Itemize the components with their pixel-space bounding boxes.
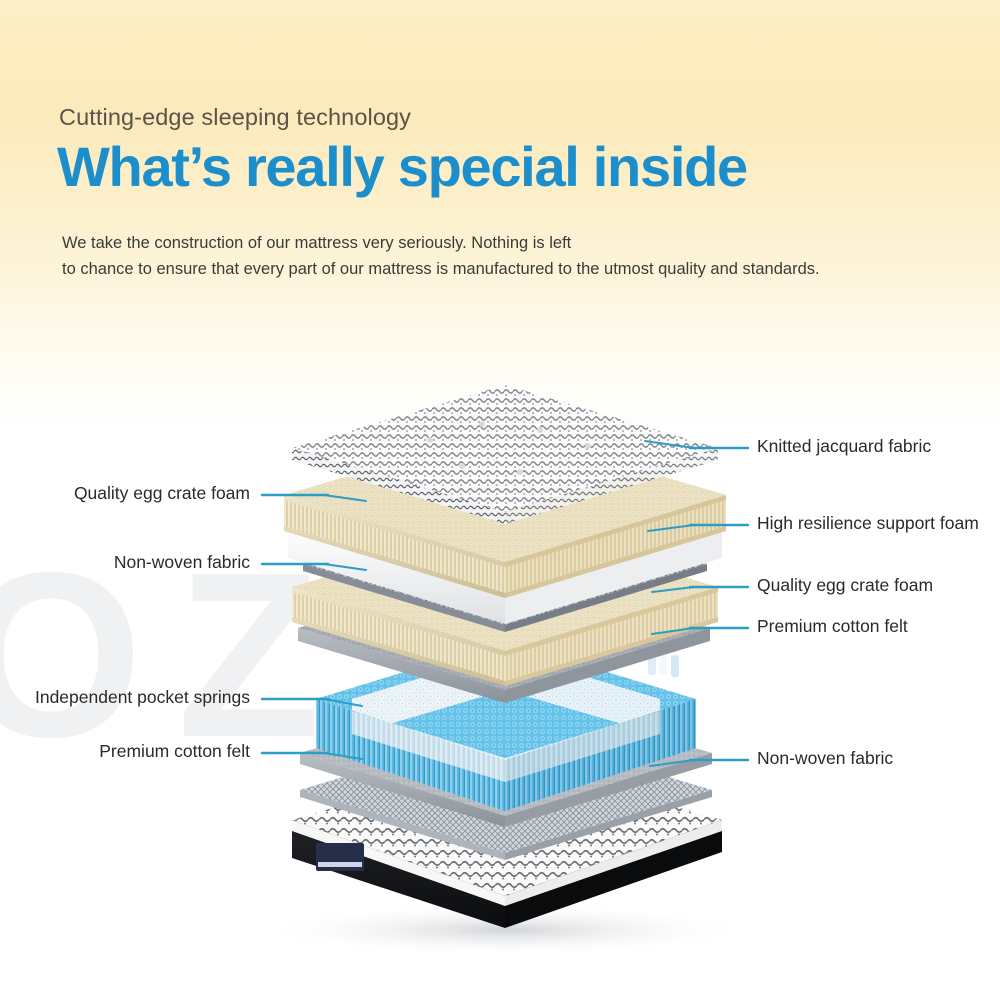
label-high-resilience-support-foam: High resilience support foam xyxy=(757,515,979,533)
mattress-exploded-diagram: Knitted jacquard fabric High resilience … xyxy=(0,0,1000,1000)
label-quality-egg-crate-foam-right: Quality egg crate foam xyxy=(757,577,933,595)
label-quality-egg-crate-foam-left: Quality egg crate foam xyxy=(0,485,250,503)
label-independent-pocket-springs: Independent pocket springs xyxy=(0,689,250,707)
label-premium-cotton-felt-left: Premium cotton felt xyxy=(0,743,250,761)
label-premium-cotton-felt-right: Premium cotton felt xyxy=(757,618,908,636)
infographic-page: OZ Cutting-edge sleeping technology What… xyxy=(0,0,1000,1000)
label-non-woven-fabric-right: Non-woven fabric xyxy=(757,750,893,768)
label-non-woven-fabric-left: Non-woven fabric xyxy=(0,554,250,572)
label-knitted-jacquard-fabric: Knitted jacquard fabric xyxy=(757,438,931,456)
